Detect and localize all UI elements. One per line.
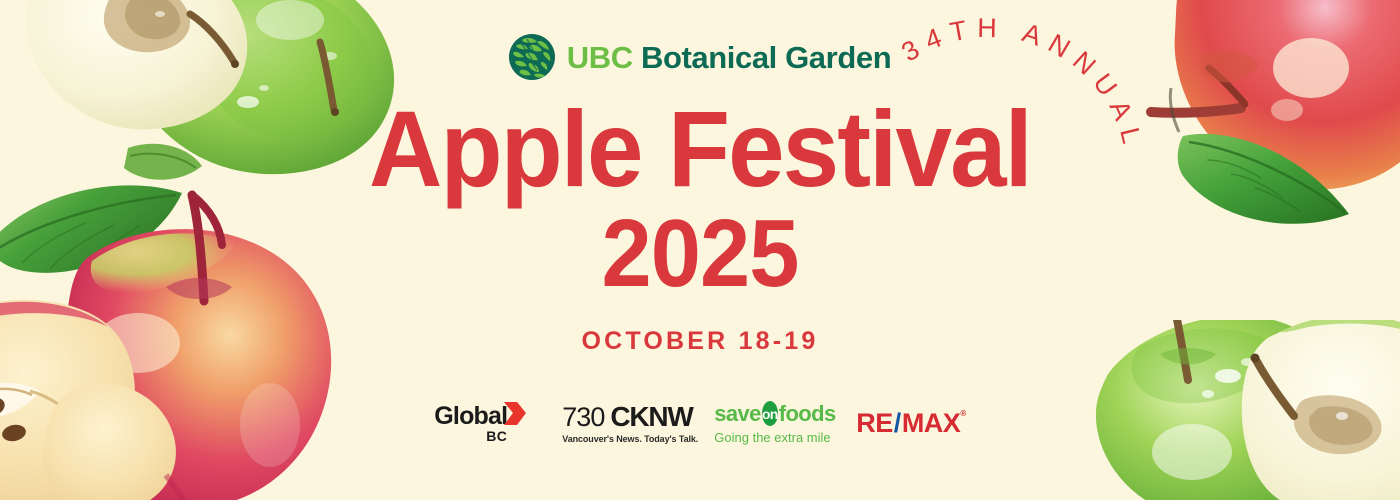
save-on-foods-part2: foods: [779, 403, 836, 425]
save-on-foods-tagline: Going the extra mile: [714, 430, 822, 445]
page-title: Apple Festival: [42, 96, 1358, 202]
global-chevron-icon: [503, 401, 527, 427]
sponsor-logo-row: Global BC 730 CKNW Vancouver's News. Tod…: [0, 398, 1400, 448]
save-on-foods-on-badge: on: [762, 401, 778, 426]
apple-festival-banner: UBC Botanical Garden 34TH ANNUAL Apple F…: [0, 0, 1400, 500]
remax-part1: RE: [856, 410, 893, 437]
festival-title-block: Apple Festival 2025 OCTOBER 18-19: [0, 96, 1400, 356]
remax-part2: MAX: [902, 410, 961, 437]
ubc-wordmark-secondary: Botanical Garden: [641, 40, 891, 75]
save-on-foods-lockup: save on foods: [714, 401, 822, 426]
global-bc-name: Global: [434, 402, 507, 431]
remax-slash: /: [894, 410, 901, 437]
sponsor-logo-global-bc[interactable]: Global BC: [434, 398, 528, 448]
ubc-botanical-garden-wordmark: UBC Botanical Garden: [567, 42, 891, 73]
cknw-callsign: CKNW: [610, 403, 692, 431]
sponsor-logo-cknw[interactable]: 730 CKNW Vancouver's News. Today's Talk.: [562, 403, 680, 444]
cknw-lockup: 730 CKNW: [562, 403, 680, 431]
remax-trademark: ®: [960, 410, 965, 418]
festival-year: 2025: [42, 202, 1358, 306]
ubc-botanical-garden-roundel-icon: [509, 34, 555, 80]
cknw-frequency: 730: [562, 404, 604, 431]
save-on-foods-part1: save: [714, 403, 761, 425]
ubc-wordmark-primary: UBC: [567, 40, 633, 75]
sponsor-logo-save-on-foods[interactable]: save on foods Going the extra mile: [714, 401, 822, 445]
sponsor-logo-remax[interactable]: RE / MAX ®: [856, 410, 965, 437]
cknw-tagline: Vancouver's News. Today's Talk.: [562, 434, 680, 444]
global-bc-subtitle: BC: [486, 428, 507, 444]
festival-dates: OCTOBER 18-19: [0, 327, 1400, 356]
ubc-botanical-garden-logo: UBC Botanical Garden: [0, 34, 1400, 80]
